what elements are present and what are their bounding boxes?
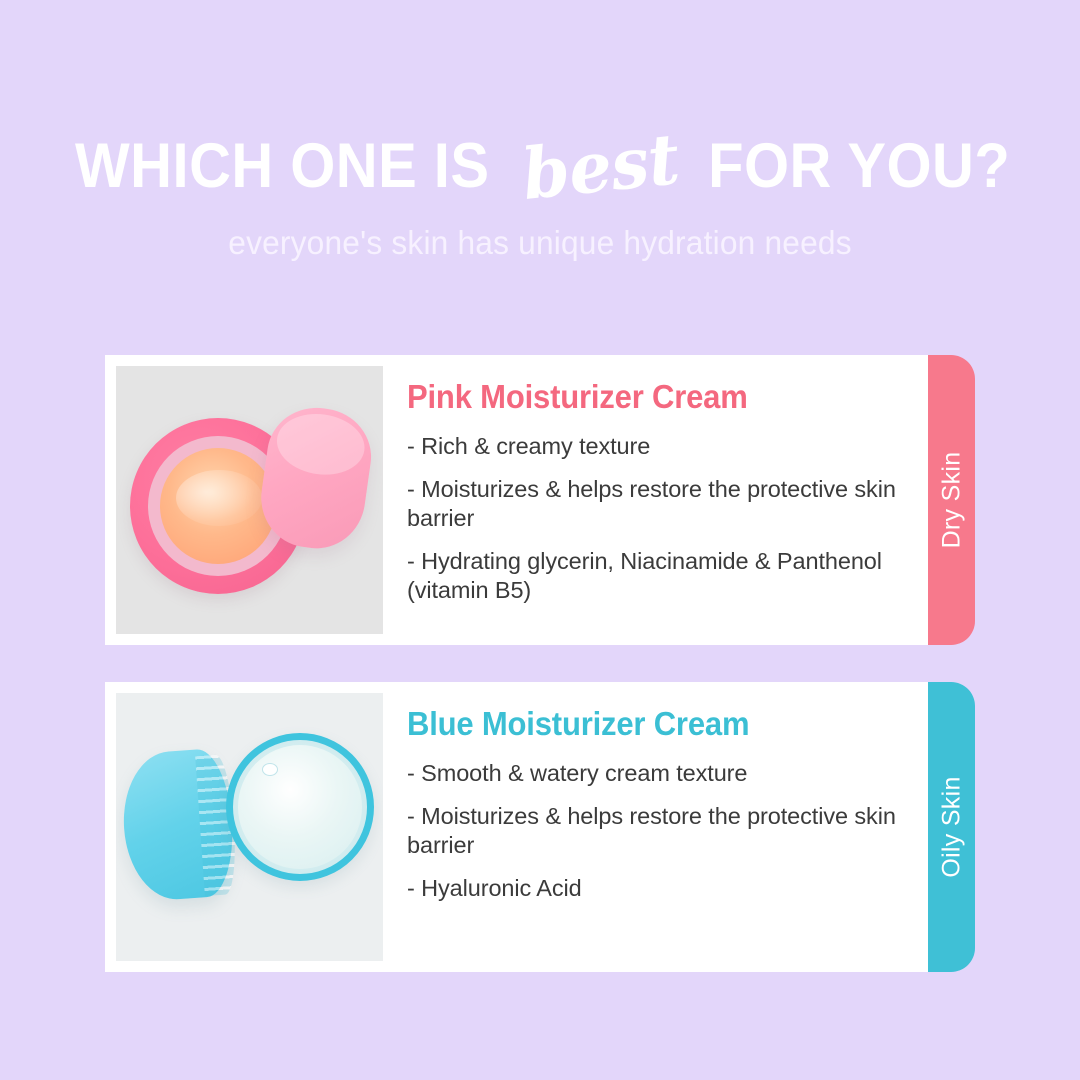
blue-card-body: Blue Moisturizer Cream - Smooth & watery… bbox=[383, 693, 917, 961]
headline-part-two: FOR YOU? bbox=[708, 135, 1010, 198]
list-item: - Hyaluronic Acid bbox=[407, 874, 903, 903]
skin-type-tab-dry[interactable]: Dry Skin bbox=[928, 355, 975, 645]
blue-cream-bubble-icon bbox=[262, 763, 278, 776]
product-card-pink[interactable]: Pink Moisturizer Cream - Rich & creamy t… bbox=[105, 355, 928, 645]
skin-type-tab-dry-label: Dry Skin bbox=[937, 452, 966, 549]
list-item: - Moisturizes & helps restore the protec… bbox=[407, 475, 903, 533]
blue-moisturizer-jar-photo bbox=[116, 693, 383, 961]
pink-product-title: Pink Moisturizer Cream bbox=[407, 378, 873, 416]
skin-type-tab-oily[interactable]: Oily Skin bbox=[928, 682, 975, 972]
skin-type-tab-oily-label: Oily Skin bbox=[937, 776, 966, 877]
headline-script-word: best bbox=[508, 123, 694, 211]
pink-lid-highlight-icon bbox=[273, 408, 368, 480]
pink-moisturizer-jar-photo bbox=[116, 366, 383, 634]
header: WHICH ONE IS best FOR YOU? everyone's sk… bbox=[0, 0, 1080, 262]
pink-cream-highlight-icon bbox=[176, 470, 262, 526]
pink-jar-lid-icon bbox=[255, 401, 377, 554]
blue-product-title: Blue Moisturizer Cream bbox=[407, 705, 873, 743]
pink-card-body: Pink Moisturizer Cream - Rich & creamy t… bbox=[383, 366, 917, 634]
list-item: - Smooth & watery cream texture bbox=[407, 759, 903, 788]
list-item: - Moisturizes & helps restore the protec… bbox=[407, 802, 903, 860]
headline-part-one: WHICH ONE IS bbox=[75, 135, 489, 198]
list-item: - Hydrating glycerin, Niacinamide & Pant… bbox=[407, 547, 903, 605]
page-headline: WHICH ONE IS best FOR YOU? bbox=[0, 128, 1080, 198]
product-card-blue[interactable]: Blue Moisturizer Cream - Smooth & watery… bbox=[105, 682, 928, 972]
page-subtitle: everyone's skin has unique hydration nee… bbox=[22, 224, 1059, 262]
list-item: - Rich & creamy texture bbox=[407, 432, 903, 461]
blue-cream-surface-icon bbox=[238, 745, 362, 869]
